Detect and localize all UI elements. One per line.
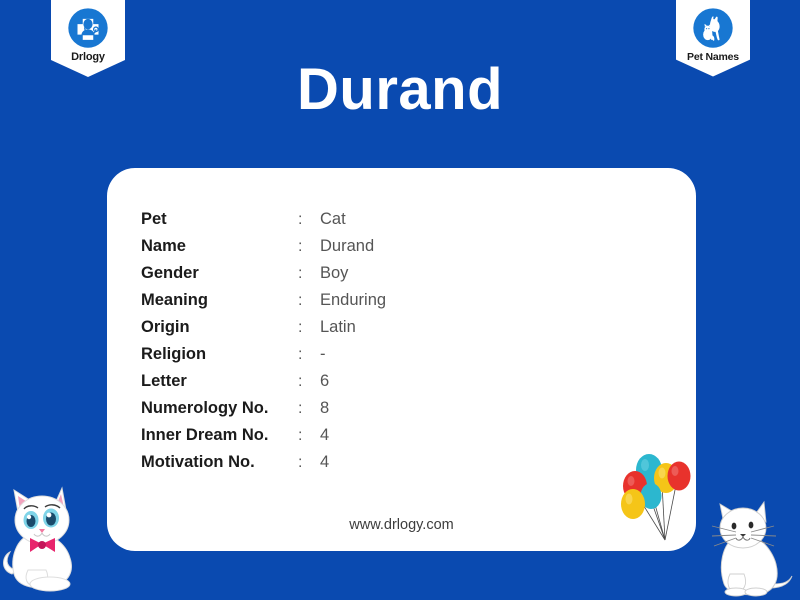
row-label: Inner Dream No. xyxy=(141,426,298,445)
drlogy-logo-icon xyxy=(67,7,109,49)
dog-and-cat-icon xyxy=(692,7,734,49)
cartoon-cat-icon xyxy=(0,478,92,600)
table-row: Religion : - xyxy=(141,345,386,372)
row-value: 4 xyxy=(320,426,329,445)
table-row: Motivation No. : 4 xyxy=(141,453,386,480)
table-row: Meaning : Enduring xyxy=(141,291,386,318)
table-row: Inner Dream No. : 4 xyxy=(141,426,386,453)
table-row: Numerology No. : 8 xyxy=(141,399,386,426)
pet-name-info-card: Pet : Cat Name : Durand Gender : Boy Mea… xyxy=(107,168,696,551)
badge-ribbon-left: Drlogy xyxy=(51,0,125,77)
row-separator: : xyxy=(298,292,320,310)
row-value: 8 xyxy=(320,399,329,418)
row-separator: : xyxy=(298,265,320,283)
row-label: Motivation No. xyxy=(141,453,298,472)
row-separator: : xyxy=(298,238,320,256)
badge-pet-names[interactable]: Pet Names xyxy=(676,0,750,77)
row-separator: : xyxy=(298,400,320,418)
row-value: 6 xyxy=(320,372,329,391)
row-label: Numerology No. xyxy=(141,399,298,418)
badge-pet-names-label: Pet Names xyxy=(676,52,750,63)
table-row: Gender : Boy xyxy=(141,264,386,291)
website-url: www.drlogy.com xyxy=(107,517,696,533)
row-label: Meaning xyxy=(141,291,298,310)
table-row: Letter : 6 xyxy=(141,372,386,399)
table-row: Name : Durand xyxy=(141,237,386,264)
row-label: Religion xyxy=(141,345,298,364)
row-label: Origin xyxy=(141,318,298,337)
info-table: Pet : Cat Name : Durand Gender : Boy Mea… xyxy=(141,210,386,480)
row-value: - xyxy=(320,345,326,364)
row-value: Durand xyxy=(320,237,374,256)
table-row: Origin : Latin xyxy=(141,318,386,345)
cat-silhouette-icon xyxy=(706,496,798,600)
balloons-icon xyxy=(620,448,704,544)
row-label: Gender xyxy=(141,264,298,283)
row-value: Boy xyxy=(320,264,348,283)
badge-drlogy-label: Drlogy xyxy=(51,52,125,63)
row-value: Latin xyxy=(320,318,356,337)
table-row: Pet : Cat xyxy=(141,210,386,237)
row-separator: : xyxy=(298,373,320,391)
row-separator: : xyxy=(298,211,320,229)
badge-drlogy[interactable]: Drlogy xyxy=(51,0,125,77)
badge-ribbon-right: Pet Names xyxy=(676,0,750,77)
row-value: Cat xyxy=(320,210,346,229)
row-value: 4 xyxy=(320,453,329,472)
row-separator: : xyxy=(298,454,320,472)
row-separator: : xyxy=(298,346,320,364)
row-label: Pet xyxy=(141,210,298,229)
row-separator: : xyxy=(298,427,320,445)
row-value: Enduring xyxy=(320,291,386,310)
row-label: Letter xyxy=(141,372,298,391)
row-label: Name xyxy=(141,237,298,256)
row-separator: : xyxy=(298,319,320,337)
